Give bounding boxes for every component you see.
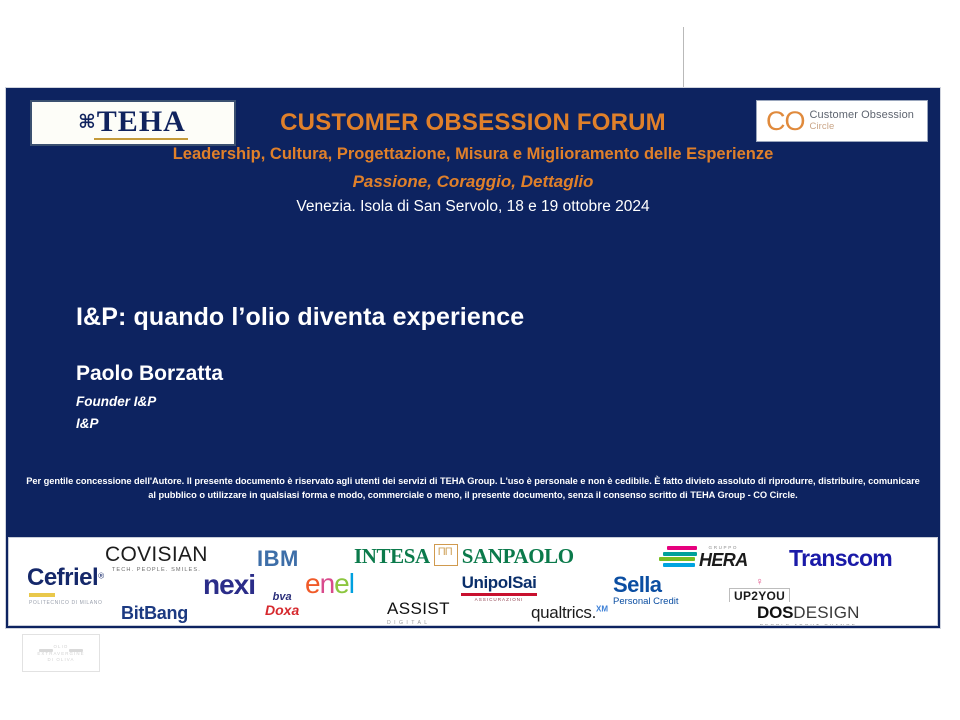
sella-wordmark: Sella: [613, 572, 661, 597]
qualtrics-wordmark: qualtrics.: [531, 603, 596, 622]
unipolsai-wordmark: UnipolSai: [462, 573, 537, 592]
sponsor-logo-enel: enel: [305, 570, 354, 598]
slide-page: ⌘TEHA CO Customer Obsession Circle CUSTO…: [0, 0, 960, 720]
dos-design-tagline: PEOPLE ABOUT CHANGE: [757, 625, 860, 626]
event-venue-date: Venezia. Isola di San Servolo, 18 e 19 o…: [6, 198, 940, 216]
speaker-name: Paolo Borzatta: [76, 362, 223, 386]
presentation-title: I&P: quando l’olio diventa experience: [76, 303, 524, 332]
sponsor-logo-bva-doxa: bva Doxa: [265, 588, 299, 617]
copyright-disclaimer: Per gentile concessione dell'Autore. Il …: [24, 474, 922, 503]
cefriel-trademark: ®: [98, 572, 104, 581]
sponsor-logo-intesa-sanpaolo: INTESASANPAOLO: [354, 544, 574, 567]
up2you-wordmark: UP2YOU: [729, 588, 790, 602]
cefriel-tagline: POLITECNICO DI MILANO: [29, 601, 104, 606]
hera-wordmark: HERA: [699, 551, 748, 569]
bitbang-wordmark: BitBang: [121, 603, 188, 623]
dos-wordmark: DOS: [757, 603, 793, 622]
presentation-slide: ⌘TEHA CO Customer Obsession Circle CUSTO…: [6, 88, 940, 628]
assist-wordmark: ASSIST: [387, 599, 450, 618]
olive-oil-logo-line3: DI OLIVA: [23, 657, 99, 664]
sponsor-logo-band: Cefriel® POLITECNICO DI MILANO COVISIAN …: [8, 537, 938, 626]
event-subtitle-1: Leadership, Cultura, Progettazione, Misu…: [6, 145, 940, 164]
cefriel-wordmark: Cefriel: [27, 564, 98, 591]
ibm-wordmark: IBM: [257, 546, 299, 571]
design-wordmark: DESIGN: [793, 603, 859, 622]
sella-tagline: Personal Credit: [613, 597, 678, 607]
sanpaolo-wordmark: SANPAOLO: [462, 544, 574, 568]
sponsor-logo-assist-digital: ASSIST DIGITAL: [387, 600, 450, 626]
assist-tagline: DIGITAL: [387, 621, 450, 626]
sponsor-logo-nexi: nexi: [203, 571, 255, 599]
cefriel-accent-bar: [29, 593, 55, 597]
sponsor-logo-dos-design: DOSDESIGN PEOPLE ABOUT CHANGE: [757, 604, 860, 626]
intesa-wordmark: INTESA: [354, 544, 430, 568]
unipolsai-accent-line: [461, 593, 537, 596]
sponsor-logo-ibm: IBM: [257, 548, 299, 570]
covisian-wordmark: COVISIAN: [105, 543, 208, 566]
sponsor-logo-sella: Sella Personal Credit: [613, 574, 678, 607]
doxa-wordmark: Doxa: [265, 603, 299, 617]
olive-oil-logo: OLIO EXTRAVERGINE DI OLIVA: [22, 634, 100, 672]
enel-wordmark: enel: [305, 568, 354, 599]
transcom-wordmark: Transcom: [789, 545, 892, 571]
event-subtitle-2: Passione, Coraggio, Dettaglio: [6, 172, 940, 192]
unipolsai-tagline: ASSICURAZIONI: [461, 598, 537, 603]
olive-oil-caps-icon: [23, 639, 99, 657]
speaker-role: Founder I&P: [76, 394, 156, 409]
hera-text: GRUPPO HERA: [699, 546, 748, 569]
hera-bars-icon: [659, 546, 697, 568]
sponsor-logo-hera: GRUPPO HERA: [659, 546, 748, 569]
event-title: CUSTOMER OBSESSION FORUM: [6, 109, 940, 137]
layout-guide-line: [683, 27, 684, 88]
covisian-tagline: TECH. PEOPLE. SMILES.: [105, 568, 208, 574]
sponsor-logo-covisian: COVISIAN TECH. PEOPLE. SMILES.: [105, 544, 208, 574]
speaker-organization: I&P: [76, 416, 99, 431]
sponsor-logo-qualtrics: qualtrics.XM: [531, 604, 608, 622]
sponsor-logo-unipolsai: UnipolSai ASSICURAZIONI: [461, 574, 537, 603]
up2you-symbol-icon: ♀: [729, 578, 790, 588]
intesa-building-icon: [434, 544, 458, 566]
sponsor-logo-bitbang: BitBang: [121, 604, 188, 623]
nexi-wordmark: nexi: [203, 569, 255, 600]
sponsor-logo-up2you: ♀ UP2YOU: [729, 578, 790, 604]
sponsor-logo-cefriel: Cefriel® POLITECNICO DI MILANO: [27, 566, 104, 606]
sponsor-logo-transcom: Transcom: [789, 547, 892, 570]
qualtrics-xm-badge: XM: [596, 605, 608, 614]
